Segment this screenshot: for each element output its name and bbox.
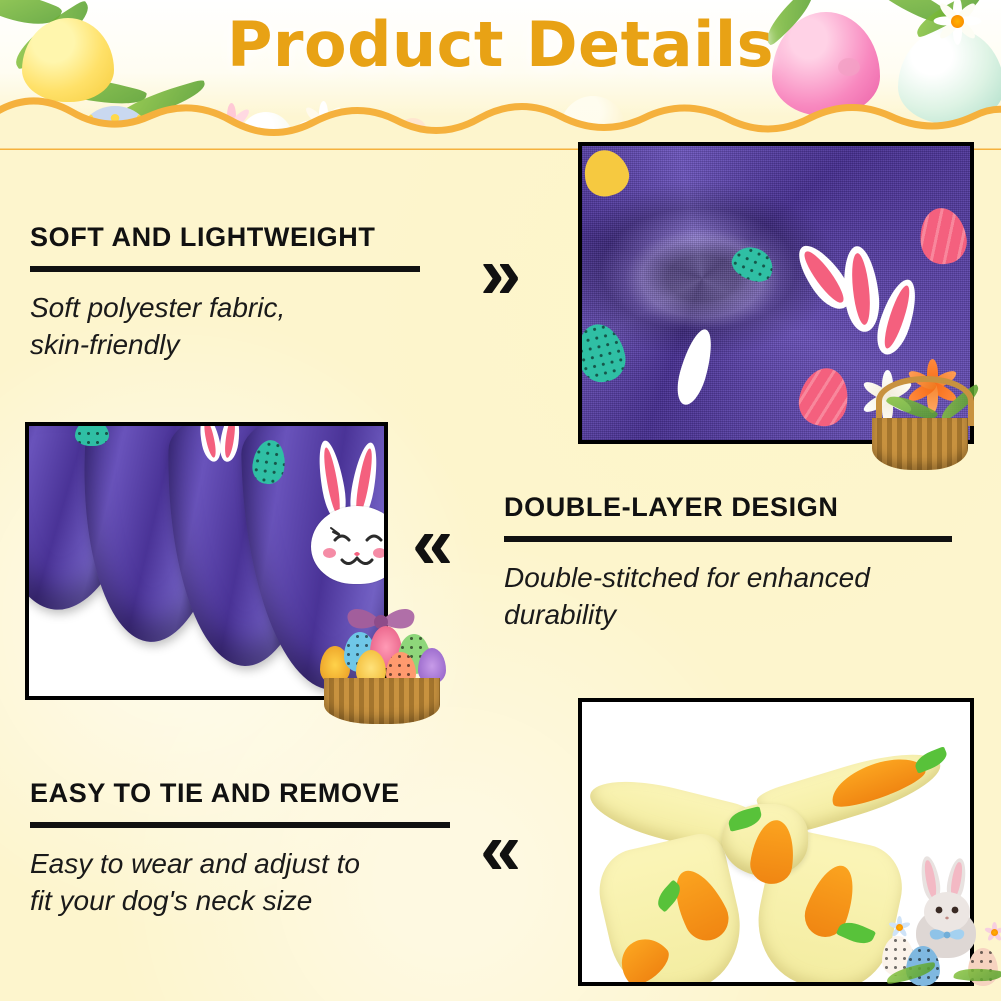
heading-underline: [504, 536, 952, 542]
feature-heading: DOUBLE-LAYER DESIGN: [504, 492, 952, 523]
chevron-left-icon: «: [480, 812, 515, 886]
header-banner: Product Details: [0, 0, 1001, 150]
feature-heading: EASY TO TIE AND REMOVE: [30, 778, 450, 809]
feature-heading: SOFT AND LIGHTWEIGHT: [30, 222, 420, 253]
heading-underline: [30, 266, 420, 272]
easter-eggs-pile: [318, 624, 448, 686]
feature-body: Double-stitched for enhanced durability: [504, 560, 952, 634]
printed-teal-egg: [75, 422, 109, 446]
feature-easy-to-tie-and-remove: EASY TO TIE AND REMOVE Easy to wear and …: [30, 778, 450, 920]
rabbit-bow-icon: [922, 926, 972, 944]
wicker-basket: [324, 678, 440, 724]
feature-body: Easy to wear and adjust to fit your dog'…: [30, 846, 450, 920]
bunny-with-eggs-clipart: [880, 856, 1001, 986]
page-title: Product Details: [0, 8, 1001, 81]
easter-egg-basket-clipart: [308, 596, 456, 726]
printed-bunny-face: [311, 506, 388, 584]
flower-basket-clipart: [846, 338, 998, 472]
feature-body: Soft polyester fabric, skin-friendly: [30, 290, 420, 364]
feature-double-layer-design: DOUBLE-LAYER DESIGN Double-stitched for …: [504, 492, 952, 634]
rabbit-figure: [908, 856, 984, 960]
bunny-face-features: [311, 506, 388, 584]
product-details-infographic: Product Details SOFT AND LIGHTWEIGHT Sof…: [0, 0, 1001, 1001]
small-flower: [980, 918, 1001, 946]
heading-underline: [30, 822, 450, 828]
small-flower: [884, 912, 914, 942]
wicker-basket: [872, 418, 968, 470]
printed-bunny: [301, 440, 388, 620]
scalloped-wave-border: [0, 86, 1001, 150]
chevron-right-icon: »: [480, 236, 515, 310]
feature-soft-and-lightweight: SOFT AND LIGHTWEIGHT Soft polyester fabr…: [30, 222, 420, 364]
chevron-left-icon: «: [412, 506, 447, 580]
